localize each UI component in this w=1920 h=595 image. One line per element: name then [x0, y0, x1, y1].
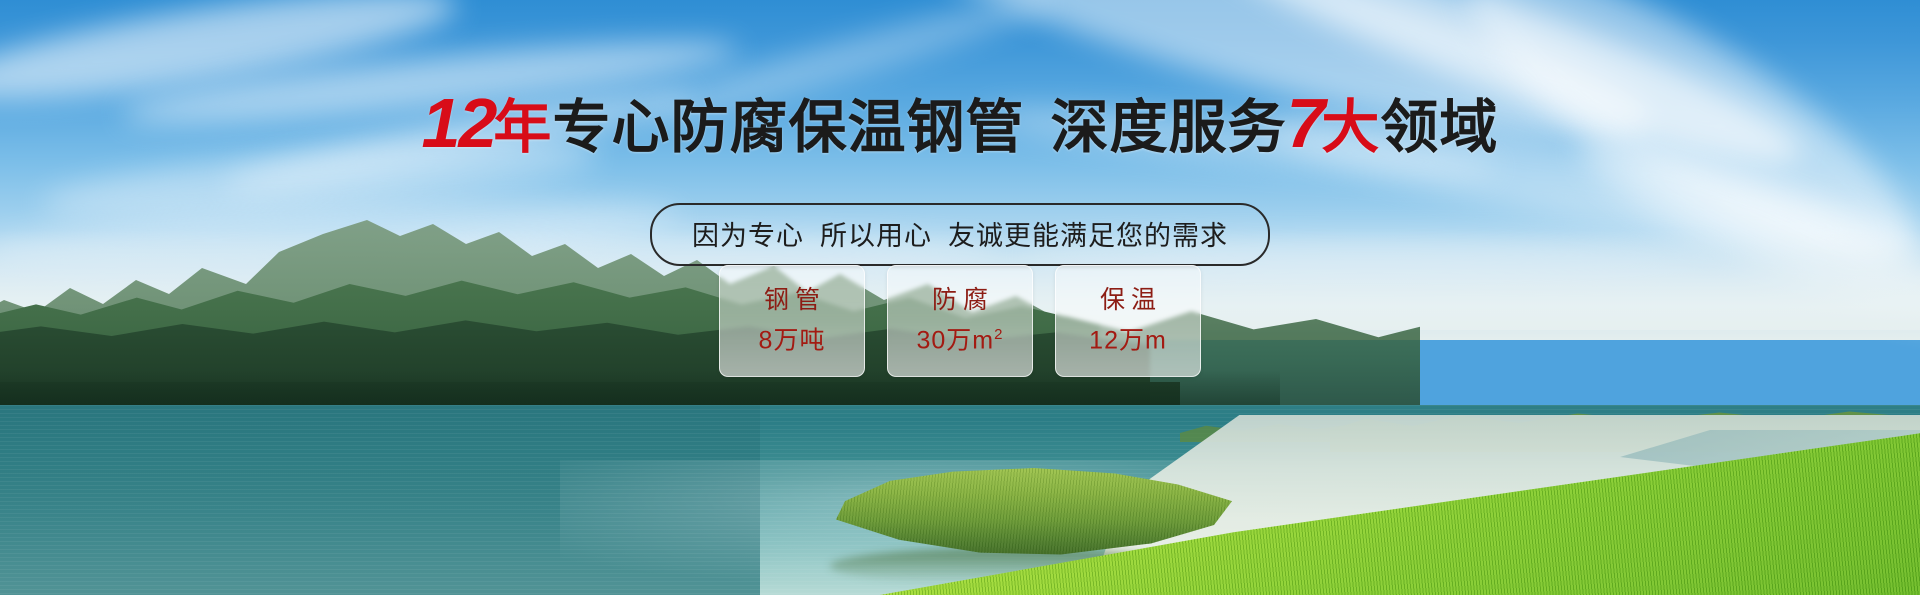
stat-value: 30万m2 [917, 327, 1004, 353]
subtitle-segment-1: 因为专心 [692, 221, 804, 251]
headline-service-phrase: 深度服务 [1050, 95, 1286, 160]
stat-value: 12万m [1089, 327, 1167, 353]
stat-value-text: 8万吨 [759, 327, 826, 355]
stat-value: 8万吨 [759, 327, 826, 353]
headline-fields-suffix: 领域 [1380, 95, 1498, 160]
headline-years-unit: 年 [493, 95, 552, 160]
headline-main-phrase: 专心防腐保温钢管 [552, 95, 1024, 160]
stat-label: 保温 [1094, 288, 1162, 313]
headline-fields-number: 7 [1286, 84, 1323, 162]
stat-card-steel-pipe[interactable]: 钢管 8万吨 [719, 265, 865, 377]
stat-label: 防腐 [926, 288, 994, 313]
promo-banner: 12年专心防腐保温钢管深度服务7大领域 因为专心所以用心友诚更能满足您的需求 钢… [0, 0, 1920, 595]
banner-headline: 12年专心防腐保温钢管深度服务7大领域 [0, 88, 1920, 158]
stat-card-anticorrosion[interactable]: 防腐 30万m2 [887, 265, 1033, 377]
subtitle-segment-2: 所以用心 [820, 221, 932, 251]
stat-value-text: 12万m [1089, 327, 1167, 355]
stat-value-text: 30万m [917, 327, 995, 355]
banner-subtitle-pill: 因为专心所以用心友诚更能满足您的需求 [650, 203, 1270, 266]
subtitle-segment-3: 友诚更能满足您的需求 [948, 221, 1228, 251]
headline-fields-unit: 大 [1321, 95, 1380, 160]
stat-label: 钢管 [758, 288, 826, 313]
stat-card-insulation[interactable]: 保温 12万m [1055, 265, 1201, 377]
stat-value-superscript: 2 [994, 326, 1003, 343]
stat-card-group: 钢管 8万吨 防腐 30万m2 保温 12万m [719, 265, 1201, 377]
headline-years-number: 12 [422, 84, 496, 162]
